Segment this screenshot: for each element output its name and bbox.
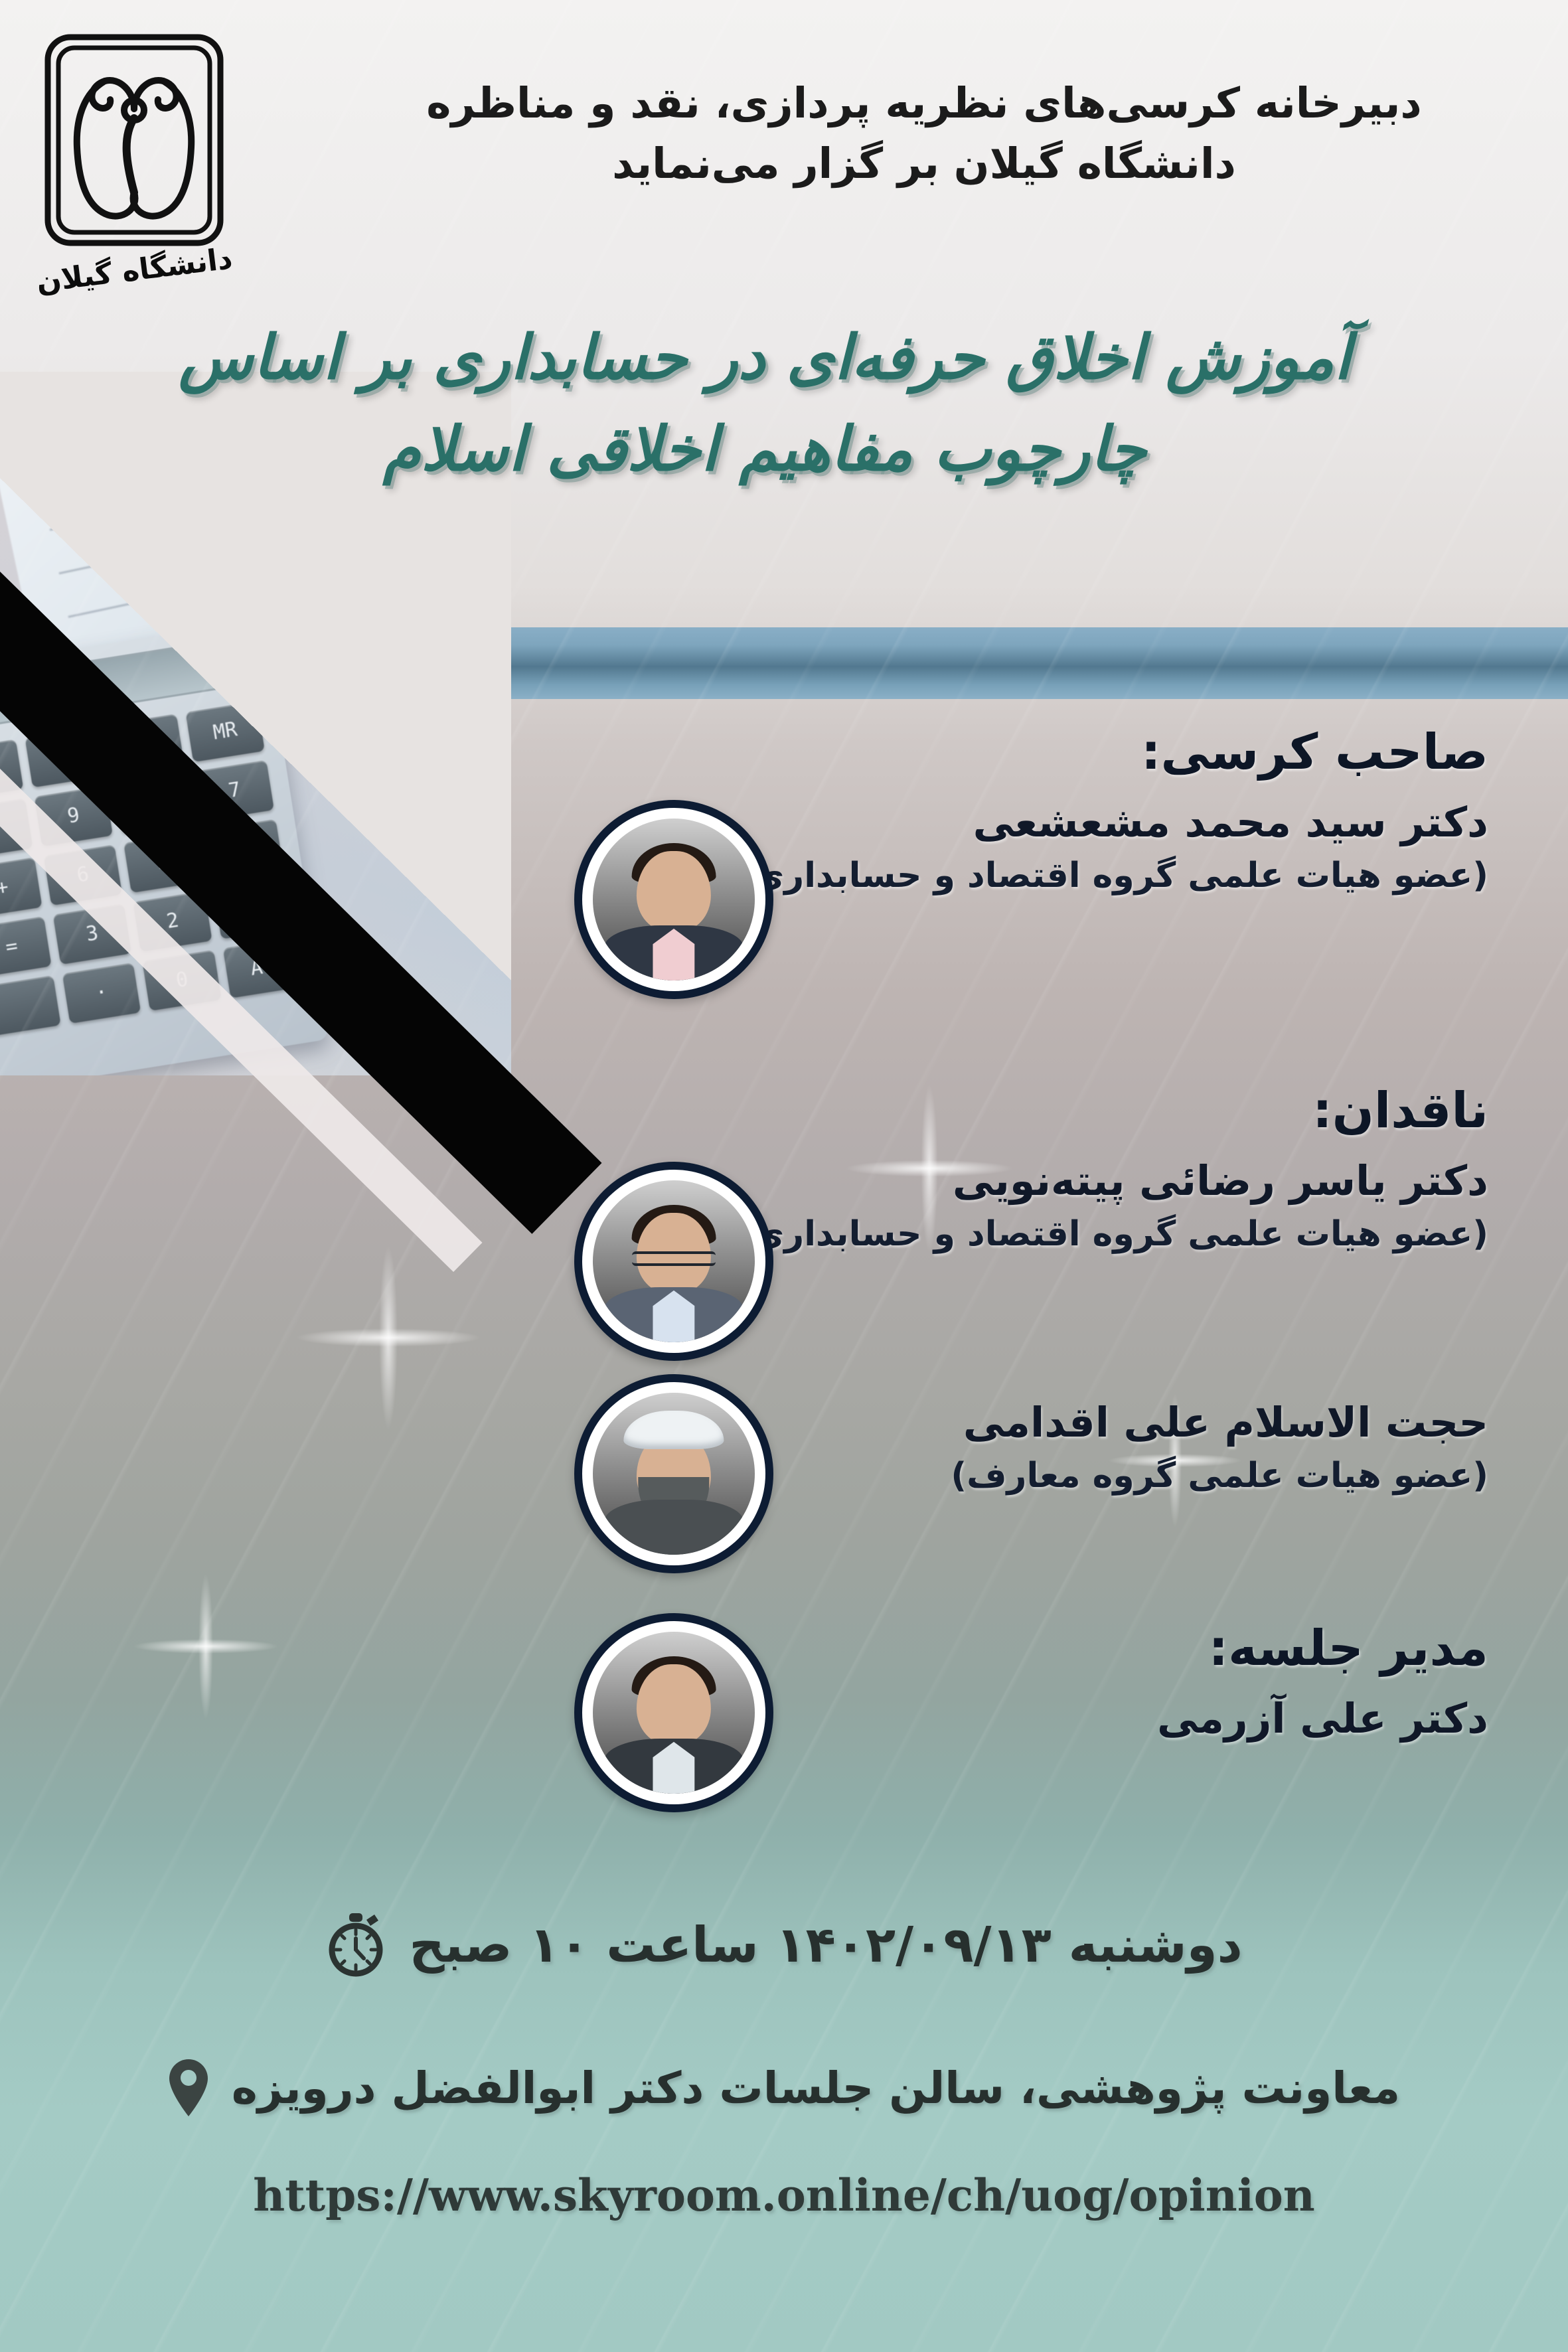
avatar-ring	[582, 1170, 765, 1353]
speaker-row-chair-holder: صاحب کرسی: دکتر سید محمد مشعشعی (عضو هیا…	[0, 724, 1568, 1069]
header-line-2: دانشگاه گیلان بر گزار می‌نماید	[360, 133, 1488, 194]
avatar	[574, 800, 773, 999]
location-text: معاونت پژوهشی، سالن جلسات دکتر ابوالفضل …	[232, 2063, 1400, 2114]
poster-title: آموزش اخلاق حرفه‌ای در حسابداری بر اساس …	[81, 312, 1449, 495]
datetime-text: دوشنبه ۱۴۰۲/۰۹/۱۳ ساعت ۱۰ صبح	[409, 1917, 1242, 1974]
speakers-section: صاحب کرسی: دکتر سید محمد مشعشعی (عضو هیا…	[0, 724, 1568, 1845]
avatar-ring	[582, 1382, 765, 1565]
portrait-mashasheh	[593, 819, 755, 980]
speaker-texts: مدیر جلسه: دکتر علی آزرمی	[705, 1620, 1568, 1752]
event-poster: MRM-M+÷× 789− 456+ 123= AC0·	[0, 0, 1568, 2352]
role-label: مدیر جلسه:	[705, 1620, 1488, 1677]
stopwatch-icon	[325, 1912, 386, 1978]
avatar	[574, 1613, 773, 1812]
portrait-azarmi	[593, 1632, 755, 1794]
speaker-affiliation: (عضو هیات علمی گروه معارف)	[705, 1456, 1488, 1496]
speaker-row-critic-2: حجت الاسلام علی اقدامی (عضو هیات علمی گر…	[0, 1374, 1568, 1607]
speaker-name: دکتر سید محمد مشعشعی	[705, 798, 1488, 846]
speaker-row-session-manager: مدیر جلسه: دکتر علی آزرمی	[0, 1607, 1568, 1845]
portrait-eqdami	[593, 1393, 755, 1555]
title-line-2: چارچوب مفاهیم اخلاقی اسلام	[81, 404, 1449, 495]
gilan-logo-icon	[41, 31, 227, 250]
portrait-rezaei-pitenoei	[593, 1180, 755, 1342]
speaker-texts: حجت الاسلام علی اقدامی (عضو هیات علمی گر…	[705, 1381, 1568, 1496]
avatar	[574, 1162, 773, 1361]
speaker-name: حجت الاسلام علی اقدامی	[705, 1398, 1488, 1447]
speaker-texts: ناقدان: دکتر یاسر رضائی پیته‌نویی (عضو ه…	[705, 1082, 1568, 1254]
speaker-affiliation: (عضو هیات علمی گروه اقتصاد و حسابداری)	[705, 1214, 1488, 1254]
logo-caption: دانشگاه گیلان	[35, 242, 234, 299]
avatar	[574, 1374, 773, 1573]
university-logo: دانشگاه گیلان	[35, 31, 234, 309]
map-pin-icon	[168, 2058, 209, 2118]
avatar-ring	[582, 808, 765, 991]
role-label: صاحب کرسی:	[705, 724, 1488, 781]
registration-url[interactable]: https://www.skyroom.online/ch/uog/opinio…	[0, 2169, 1568, 2221]
speaker-name: دکتر علی آزرمی	[705, 1694, 1488, 1743]
location-line: معاونت پژوهشی، سالن جلسات دکتر ابوالفضل …	[0, 2058, 1568, 2118]
title-line-1: آموزش اخلاق حرفه‌ای در حسابداری بر اساس	[81, 312, 1449, 404]
poster-footer: دوشنبه ۱۴۰۲/۰۹/۱۳ ساعت ۱۰ صبح	[0, 1912, 1568, 2221]
avatar-ring	[582, 1621, 765, 1804]
header-line-1: دبیرخانه کرسی‌های نظریه پردازی، نقد و من…	[360, 73, 1488, 133]
speaker-affiliation: (عضو هیات علمی گروه اقتصاد و حسابداری)	[705, 856, 1488, 896]
speaker-texts: صاحب کرسی: دکتر سید محمد مشعشعی (عضو هیا…	[705, 724, 1568, 896]
role-label: ناقدان:	[705, 1082, 1488, 1139]
speaker-name: دکتر یاسر رضائی پیته‌نویی	[705, 1156, 1488, 1205]
poster-header: دبیرخانه کرسی‌های نظریه پردازی، نقد و من…	[360, 73, 1488, 195]
datetime-line: دوشنبه ۱۴۰۲/۰۹/۱۳ ساعت ۱۰ صبح	[0, 1912, 1568, 1978]
speaker-row-critic-1: ناقدان: دکتر یاسر رضائی پیته‌نویی (عضو ه…	[0, 1069, 1568, 1374]
